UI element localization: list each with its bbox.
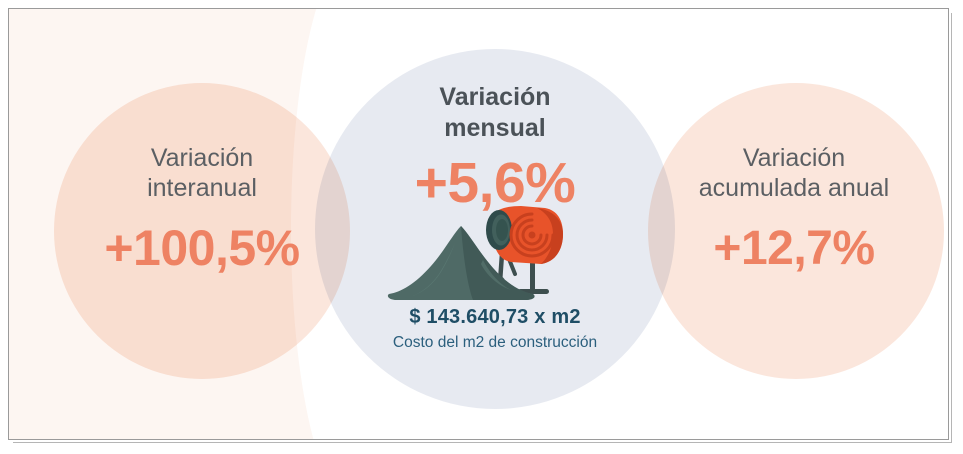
gravel-pile-and-cement-mixer-icon bbox=[387, 204, 587, 304]
metric-acumulada-label: Variación acumulada anual bbox=[634, 143, 949, 203]
cost-amount: $ 143.640,73 x m2 bbox=[325, 306, 665, 329]
metric-mensual-label: Variación mensual bbox=[325, 82, 665, 144]
metric-interanual: Variación interanual +100,5% bbox=[42, 143, 362, 277]
metric-acumulada-value: +12,7% bbox=[634, 221, 949, 276]
cost-block: $ 143.640,73 x m2 Costo del m2 de constr… bbox=[325, 306, 665, 352]
metric-mensual: Variación mensual +5,6% bbox=[325, 82, 665, 216]
cost-caption: Costo del m2 de construcción bbox=[325, 334, 665, 352]
metric-acumulada: Variación acumulada anual +12,7% bbox=[634, 143, 949, 276]
infographic-frame: Variación interanual +100,5% Variación m… bbox=[8, 8, 949, 440]
metric-interanual-value: +100,5% bbox=[42, 219, 362, 277]
metric-interanual-label: Variación interanual bbox=[42, 143, 362, 203]
mixer-drum bbox=[486, 206, 563, 264]
